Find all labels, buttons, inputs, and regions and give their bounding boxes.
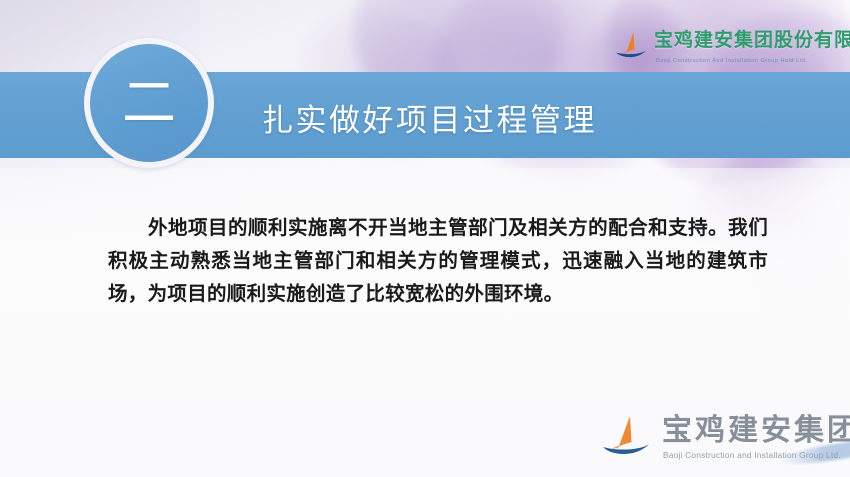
section-number-badge: 二 — [84, 38, 214, 168]
footer-logo-text: 宝鸡建安集团 Baoji Construction and Installati… — [662, 414, 850, 460]
header-logo-text: 宝鸡建安集团股份有限公司 Baoji Construction And Inst… — [654, 30, 850, 64]
header-company-logo: 宝鸡建安集团股份有限公司 Baoji Construction And Inst… — [614, 30, 850, 64]
header-company-name-en: Baoji Construction And Installation Grou… — [656, 58, 850, 64]
sailboat-icon — [614, 31, 648, 61]
page-title: 扎实做好项目过程管理 — [262, 95, 597, 140]
footer-company-logo: 宝鸡建安集团 Baoji Construction and Installati… — [600, 414, 850, 460]
section-number-label: 二 — [122, 76, 176, 130]
footer-company-name-cn: 宝鸡建安集团 — [662, 414, 850, 447]
body-paragraph: 外地项目的顺利实施离不开当地主管部门及相关方的配合和支持。我们积极主动熟悉当地主… — [108, 212, 768, 311]
header-company-name-cn: 宝鸡建安集团股份有限公司 — [654, 30, 850, 52]
footer-company-name-en: Baoji Construction and Installation Grou… — [663, 450, 850, 460]
sailboat-icon — [600, 414, 652, 460]
presentation-slide: 宝鸡建安集团股份有限公司 Baoji Construction And Inst… — [0, 0, 850, 477]
